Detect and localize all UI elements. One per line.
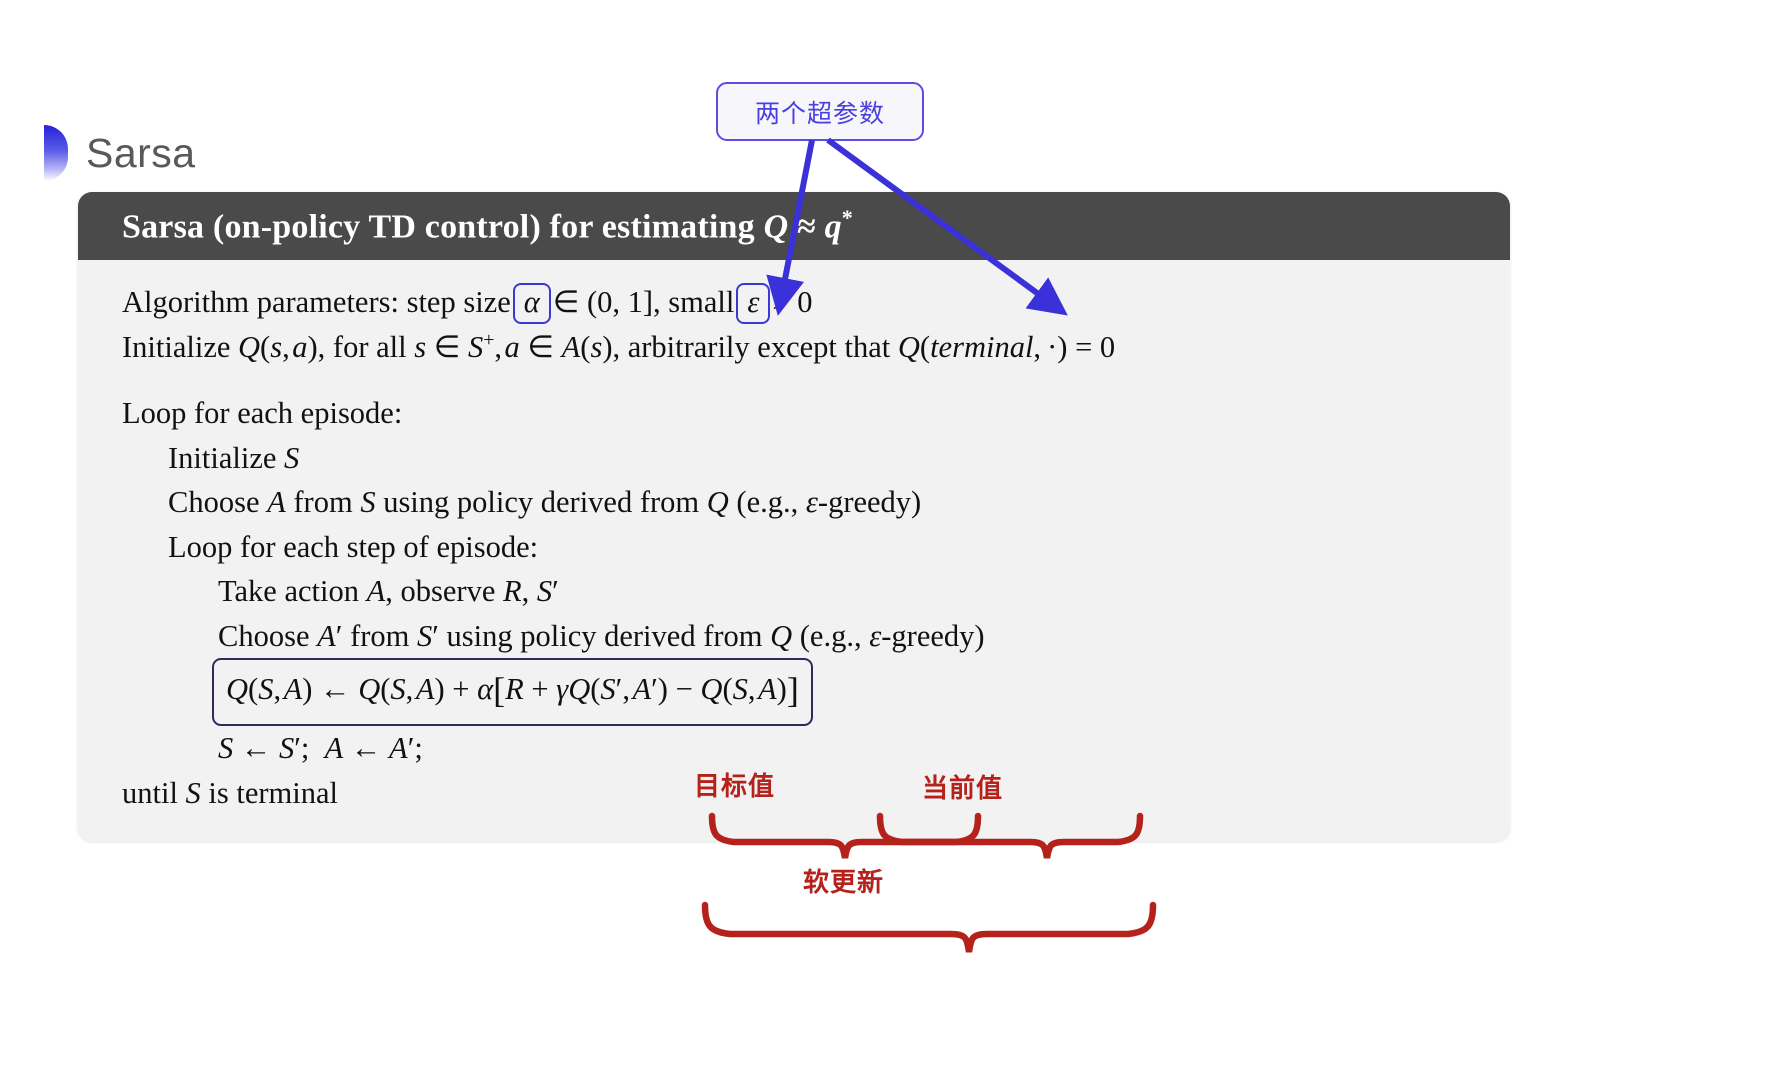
algorithm-header-text: Sarsa (on-policy TD control) for estimat… bbox=[122, 208, 764, 245]
line-update-rule: Q(S, A) ← Q(S, A) + α[R + γQ(S′, A′) − Q… bbox=[122, 658, 1510, 726]
params-suffix: > 0 bbox=[772, 285, 812, 319]
current-value-label: 当前值 bbox=[922, 768, 1003, 805]
params-prefix: Algorithm parameters: step size bbox=[122, 285, 511, 319]
title-bullet-icon bbox=[44, 125, 68, 181]
left-edge-bar bbox=[0, 0, 14, 1080]
line-initialize-q: Initialize Q(s, a), for all s ∈ S+, a ∈ … bbox=[122, 325, 1510, 370]
line-loop-step: Loop for each step of episode: bbox=[122, 525, 1510, 570]
q-update-equation-box: Q(S, A) ← Q(S, A) + α[R + γQ(S′, A′) − Q… bbox=[212, 658, 813, 726]
algorithm-header-star: * bbox=[842, 205, 853, 230]
algorithm-header-qstar: q bbox=[825, 208, 842, 245]
line-assign: S ← S′; A ← A′; bbox=[122, 726, 1510, 771]
algorithm-header: Sarsa (on-policy TD control) for estimat… bbox=[78, 192, 1510, 260]
epsilon-parameter-box: ε bbox=[736, 283, 770, 324]
line-initialize-s: Initialize S bbox=[122, 436, 1510, 481]
hyperparameter-callout: 两个超参数 bbox=[716, 82, 924, 141]
algorithm-card: Sarsa (on-policy TD control) for estimat… bbox=[78, 192, 1510, 841]
page-title: Sarsa bbox=[86, 133, 196, 174]
algorithm-body: Algorithm parameters: step sizeα∈ (0, 1]… bbox=[78, 260, 1510, 841]
line-take-action: Take action A, observe R, S′ bbox=[122, 569, 1510, 614]
line-parameters: Algorithm parameters: step sizeα∈ (0, 1]… bbox=[122, 280, 1510, 325]
algorithm-header-math: Q bbox=[764, 208, 789, 245]
alpha-parameter-box: α bbox=[513, 283, 551, 324]
soft-update-brace bbox=[705, 905, 1153, 952]
right-edge-bar bbox=[1752, 0, 1766, 1080]
callout-label: 两个超参数 bbox=[755, 94, 885, 130]
line-choose-a-prime: Choose A′ from S′ using policy derived f… bbox=[122, 614, 1510, 659]
target-value-label: 目标值 bbox=[694, 766, 775, 803]
params-middle: ∈ (0, 1], small bbox=[553, 285, 735, 319]
line-loop-episode: Loop for each episode: bbox=[122, 391, 1510, 436]
line-until: until S is terminal bbox=[122, 771, 1510, 816]
slide-title-block: Sarsa bbox=[44, 122, 196, 184]
line-choose-a: Choose A from S using policy derived fro… bbox=[122, 480, 1510, 525]
soft-update-label: 软更新 bbox=[803, 862, 884, 899]
